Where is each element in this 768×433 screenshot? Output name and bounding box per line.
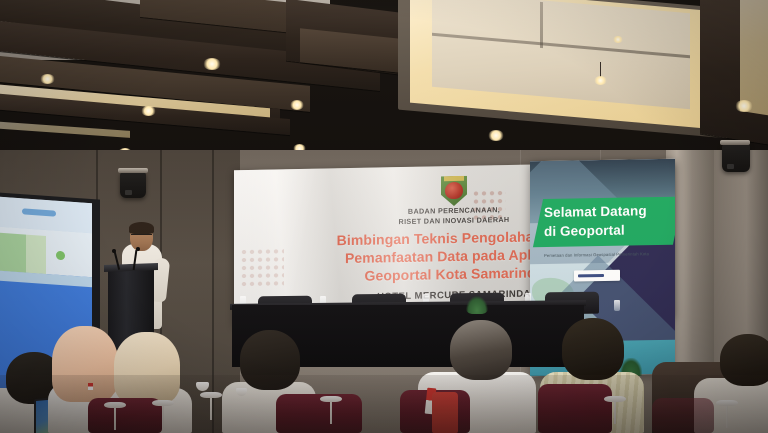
attendee-head — [450, 320, 512, 380]
presenter-glasses-icon — [131, 234, 152, 238]
lamp-stem — [162, 406, 164, 428]
ceiling-panel-divider — [540, 2, 543, 48]
lamp-stem — [614, 402, 616, 424]
screen-map-layer — [26, 235, 46, 274]
attendee-head — [562, 318, 624, 380]
indonesian-flag-pin-icon — [88, 383, 93, 390]
attendee-hijab — [52, 326, 118, 402]
recessed-downlight — [735, 100, 753, 112]
lamp-stem — [210, 398, 212, 420]
table-lamp — [200, 392, 222, 420]
recessed-downlight — [488, 130, 504, 141]
screen-map-marker — [56, 251, 65, 261]
wall-speaker-icon — [120, 172, 146, 198]
lamp-stem — [726, 406, 728, 428]
audience-chair — [652, 398, 714, 433]
audience-chair — [538, 384, 612, 433]
rollup-search-chip — [574, 270, 620, 282]
lamp-stem — [114, 408, 116, 430]
ceiling — [0, 0, 768, 168]
recessed-downlight — [613, 36, 623, 43]
recessed-downlight — [40, 74, 55, 84]
rollup-title: Selamat Datang di Geoportal — [544, 200, 675, 241]
attendee-head — [720, 334, 768, 386]
attendee-head — [240, 330, 300, 390]
drinking-glass — [614, 300, 620, 311]
ceiling-cove-light — [0, 121, 130, 138]
recessed-downlight — [290, 100, 304, 110]
rollup-title-line1: Selamat Datang — [544, 200, 675, 222]
podium-microphone-head — [112, 249, 116, 253]
attendee-hijab — [114, 332, 180, 404]
samarinda-city-emblem-icon — [441, 176, 467, 206]
presenter-hair — [129, 222, 154, 234]
table-lamp — [152, 400, 174, 428]
wall-seam — [212, 150, 214, 433]
red-bag — [432, 392, 458, 433]
pendant-light — [594, 76, 607, 85]
wall-speaker-icon — [722, 144, 750, 172]
table-lamp — [604, 396, 626, 424]
seminar-room-photo: BADAN PERENCANAAN, RISET DAN INOVASI DAE… — [0, 0, 768, 433]
recessed-downlight — [141, 106, 156, 116]
decorative-plant — [466, 296, 488, 314]
screen-map-layer — [0, 233, 26, 273]
table-lamp — [716, 400, 738, 428]
audience-chair — [276, 394, 362, 433]
lamp-stem — [330, 402, 332, 424]
rollup-title-line2: di Geoportal — [544, 220, 675, 242]
table-lamp — [320, 396, 342, 424]
recessed-downlight — [203, 58, 221, 70]
podium-microphone-head — [136, 247, 140, 251]
table-lamp — [104, 402, 126, 430]
